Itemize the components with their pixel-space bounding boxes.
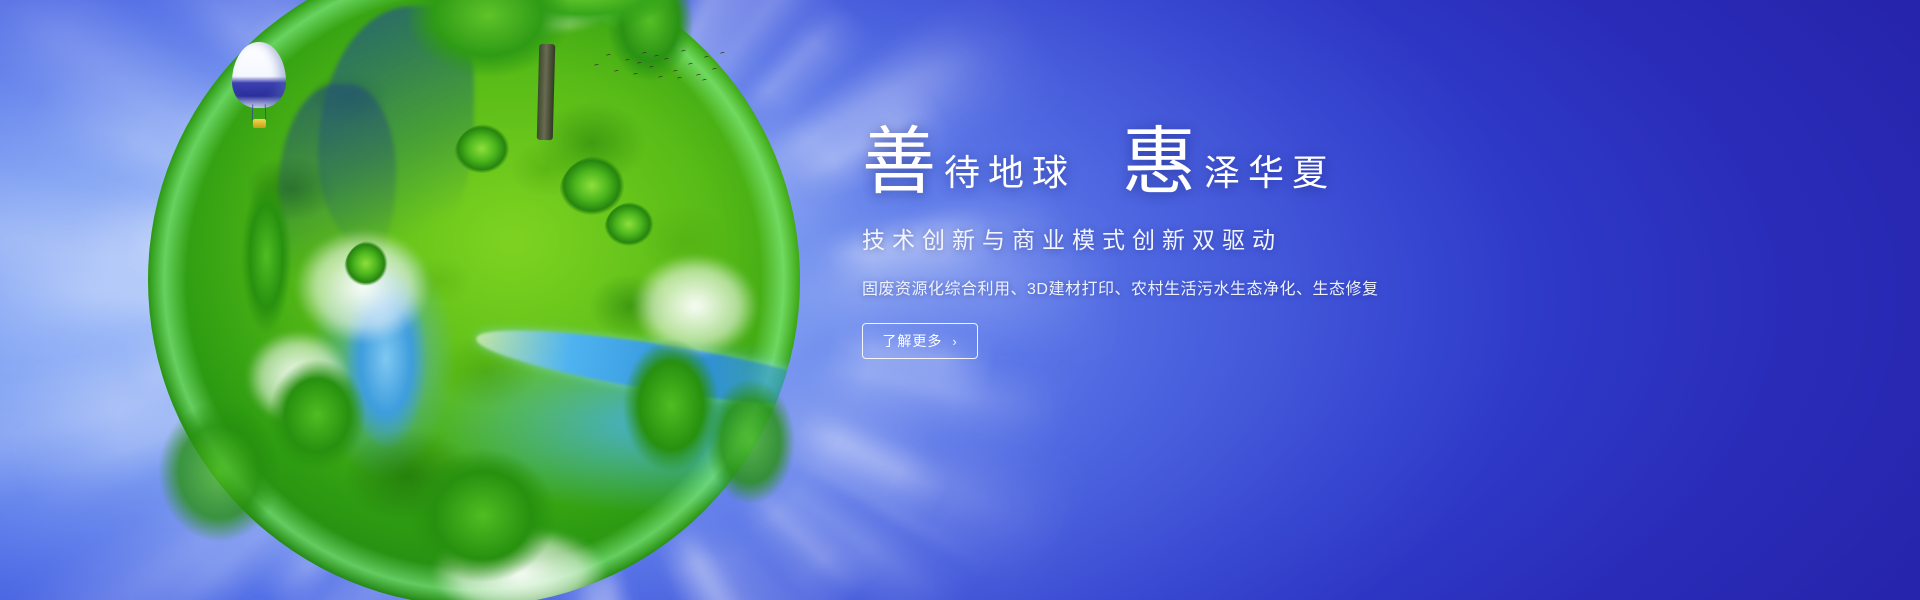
globe-cloud (617, 241, 773, 371)
birds-flock-icon (592, 46, 732, 90)
headline-char-2: 惠 (1122, 128, 1196, 199)
headline-part-2: 泽华夏 (1196, 155, 1336, 199)
headline-part-1: 待地球 (936, 155, 1076, 199)
banner-description: 固废资源化综合利用、3D建材打印、农村生活污水生态净化、生态修复 (862, 275, 1562, 299)
learn-more-label: 了解更多 (882, 331, 942, 351)
globe-cloud (233, 319, 363, 436)
globe-cloud (448, 0, 644, 45)
headline: 善 待地球 惠 泽华夏 (862, 128, 1562, 199)
chevron-right-icon: › (952, 334, 957, 349)
globe-tree-cluster (344, 241, 396, 300)
hot-air-balloon-icon (232, 42, 286, 134)
balloon-lines (252, 104, 267, 120)
globe-tree-cluster (604, 202, 663, 261)
banner-subtitle: 技术创新与商业模式创新双驱动 (862, 221, 1562, 255)
hero-banner: 善 待地球 惠 泽华夏 技术创新与商业模式创新双驱动 固废资源化综合利用、3D建… (0, 0, 1920, 600)
headline-char-1: 善 (862, 128, 936, 199)
globe-tree-cluster (454, 124, 519, 189)
balloon-basket (253, 119, 266, 128)
balloon-envelope (232, 42, 286, 108)
learn-more-button[interactable]: 了解更多 › (862, 323, 978, 359)
globe-cloud (409, 515, 631, 600)
banner-copy: 善 待地球 惠 泽华夏 技术创新与商业模式创新双驱动 固废资源化综合利用、3D建… (862, 128, 1562, 359)
